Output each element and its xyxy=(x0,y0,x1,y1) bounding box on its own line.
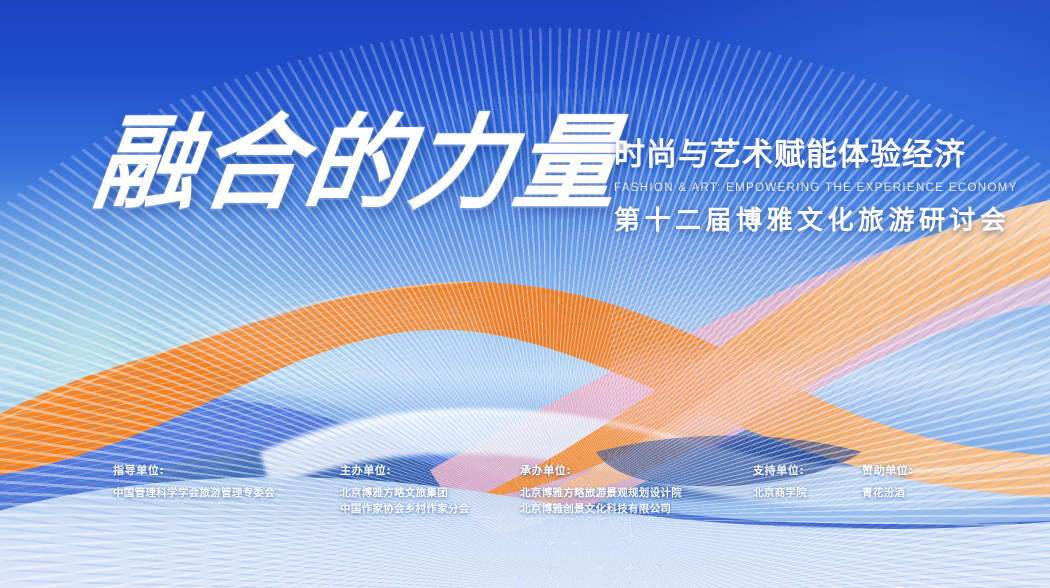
conference-backdrop: 融合的力量 时尚与艺术赋能体验经济 FASHION & ART: EMPOWER… xyxy=(0,0,1050,588)
sponsor-column-guidance: 指导单位: 中国管理科学学会旅游管理专委会 xyxy=(113,462,275,501)
conference-name: 第十二届博雅文化旅游研讨会 xyxy=(614,200,1018,237)
main-title-block: 融合的力量 xyxy=(95,112,620,217)
sponsor-column-host: 主办单位: 北京博雅方略文旅集团 中国作家协会乡村作家分会 xyxy=(340,462,470,518)
sponsor-org: 北京博雅方略旅游景观规划设计院 xyxy=(520,485,682,501)
sponsor-heading: 支持单位: xyxy=(753,462,807,478)
sponsor-column-support: 支持单位: 北京商学院 xyxy=(753,462,807,501)
sponsor-org: 北京博雅方略文旅集团 xyxy=(340,485,470,501)
subtitle-chinese: 时尚与艺术赋能体验经济 xyxy=(614,129,1018,174)
sponsor-column-organizer: 承办单位: 北京博雅方略旅游景观规划设计院 北京博雅创景文化科技有限公司 xyxy=(520,462,682,518)
subtitle-block: 时尚与艺术赋能体验经济 FASHION & ART: EMPOWERING TH… xyxy=(614,129,1018,237)
main-title: 融合的力量 xyxy=(89,112,627,217)
sponsor-heading: 赞助单位: xyxy=(862,462,913,478)
sponsor-org: 青花汾酒 xyxy=(862,485,913,501)
sponsor-org: 北京商学院 xyxy=(753,485,807,501)
sponsor-org: 北京博雅创景文化科技有限公司 xyxy=(520,501,682,517)
sponsor-heading: 主办单位: xyxy=(340,462,470,478)
sponsor-heading: 承办单位: xyxy=(520,462,682,478)
sponsor-heading: 指导单位: xyxy=(113,462,275,478)
sponsor-column-funding: 赞助单位: 青花汾酒 xyxy=(862,462,913,501)
subtitle-english: FASHION & ART: EMPOWERING THE EXPERIENCE… xyxy=(614,182,1018,194)
sponsor-org: 中国管理科学学会旅游管理专委会 xyxy=(113,485,275,501)
sponsor-org: 中国作家协会乡村作家分会 xyxy=(340,501,470,517)
sponsor-footer: 指导单位: 中国管理科学学会旅游管理专委会 主办单位: 北京博雅方略文旅集团 中… xyxy=(0,462,1050,532)
